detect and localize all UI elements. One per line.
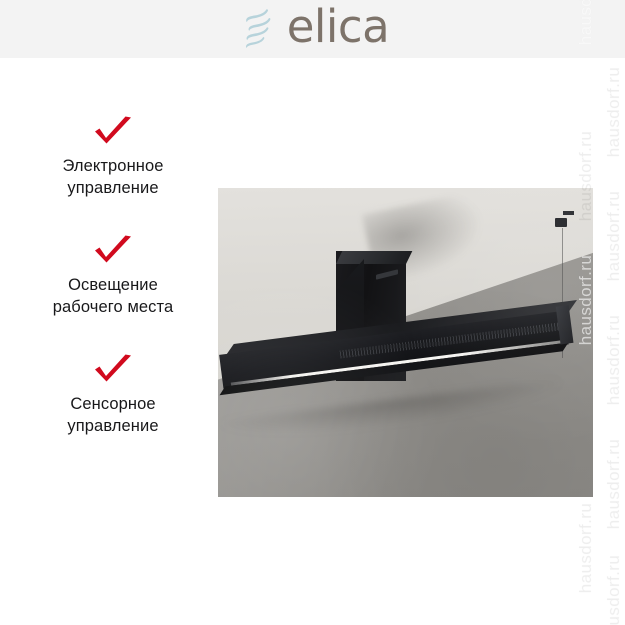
feature-label-line1: Электронное — [12, 156, 214, 178]
feature-label-line2: рабочего места — [12, 297, 214, 319]
elica-helix-icon — [236, 6, 278, 50]
watermark-text: hausdorf.ru — [604, 315, 624, 405]
watermark-text: hausdorf.ru — [604, 191, 624, 281]
feature-label-line1: Сенсорное — [12, 394, 214, 416]
feature-item: Электронное управление — [6, 112, 220, 200]
watermark-column: hausdorf.ru hausdorf.ru hausdorf.ru haus… — [599, 0, 625, 625]
red-checkmark-icon — [6, 112, 220, 152]
feature-label-line2: управление — [12, 416, 214, 438]
red-checkmark-icon — [6, 350, 220, 390]
watermark-text: hausdorf.ru — [604, 67, 624, 157]
photo-scene — [218, 188, 593, 497]
brand-wordmark: elica — [287, 4, 390, 49]
brand-lockup: elica — [236, 6, 390, 51]
watermark-text: hausdorf.ru — [576, 503, 596, 593]
feature-label-line1: Освещение — [12, 275, 214, 297]
product-photo — [218, 188, 593, 497]
feature-label: Сенсорное управление — [6, 394, 220, 438]
feature-item: Сенсорное управление — [6, 350, 220, 438]
brand-header-band: elica — [0, 0, 625, 58]
watermark-text: hausdorf.ru — [604, 439, 624, 529]
feature-list: Электронное управление Освещение рабочег… — [6, 112, 220, 469]
feature-label: Освещение рабочего места — [6, 275, 220, 319]
watermark-text: hausdorf.ru — [604, 555, 624, 625]
feature-item: Освещение рабочего места — [6, 231, 220, 319]
feature-label: Электронное управление — [6, 156, 220, 200]
red-checkmark-icon — [6, 231, 220, 271]
photo-texture-overlay — [218, 188, 593, 497]
feature-label-line2: управление — [12, 178, 214, 200]
promo-page: elica Электронное управление Освещени — [0, 0, 625, 625]
